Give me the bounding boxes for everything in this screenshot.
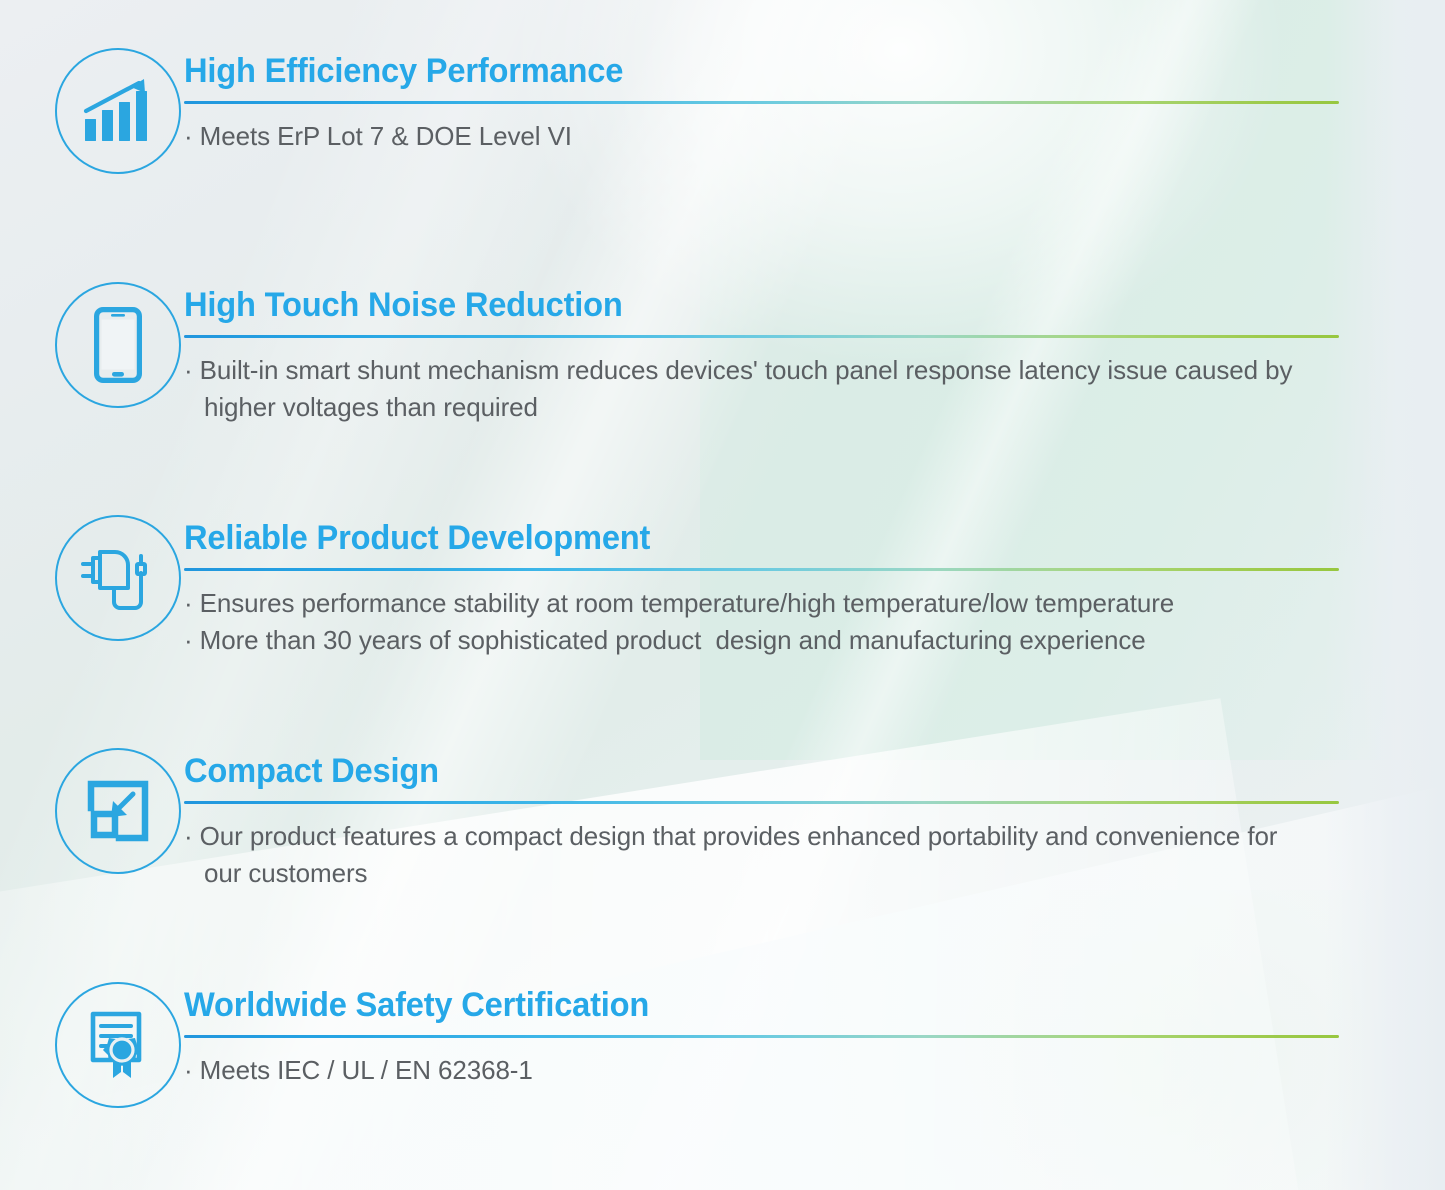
feature-title: Reliable Product Development [184,521,1382,557]
feature-bullet-line: · Meets IEC / UL / EN 62368-1 [184,1052,1432,1089]
compact-resize-icon [55,748,181,874]
feature-divider [184,101,1339,104]
smartphone-icon [55,282,181,408]
feature-item-high-touch-noise-reduction: High Touch Noise Reduction · Built-in sm… [52,282,1432,426]
feature-title: Compact Design [184,754,1382,790]
feature-description: · Ensures performance stability at room … [184,585,1432,659]
feature-title: High Touch Noise Reduction [184,288,1382,324]
power-adapter-icon [55,515,181,641]
feature-icon-container [52,982,184,1108]
feature-bullet-line: · Meets ErP Lot 7 & DOE Level VI [184,118,1432,155]
feature-body: Worldwide Safety Certification · Meets I… [184,982,1432,1089]
feature-icon-container [52,748,184,874]
feature-title: Worldwide Safety Certification [184,988,1382,1024]
feature-bullet-line: · Ensures performance stability at room … [184,585,1432,622]
feature-description: · Our product features a compact design … [184,818,1432,892]
bar-chart-growth-icon [55,48,181,174]
feature-list: High Efficiency Performance · Meets ErP … [0,0,1445,1190]
feature-body: High Touch Noise Reduction · Built-in sm… [184,282,1432,426]
feature-title: High Efficiency Performance [184,54,1382,90]
feature-item-high-efficiency-performance: High Efficiency Performance · Meets ErP … [52,48,1432,174]
feature-body: Compact Design · Our product features a … [184,748,1432,892]
feature-description: · Meets ErP Lot 7 & DOE Level VI [184,118,1432,155]
feature-item-worldwide-safety-certification: Worldwide Safety Certification · Meets I… [52,982,1432,1108]
feature-item-reliable-product-development: Reliable Product Development · Ensures p… [52,515,1432,659]
feature-icon-container [52,48,184,174]
feature-icon-container [52,282,184,408]
feature-divider [184,801,1339,804]
feature-divider [184,335,1339,338]
feature-description: · Built-in smart shunt mechanism reduces… [184,352,1432,426]
feature-icon-container [52,515,184,641]
feature-description: · Meets IEC / UL / EN 62368-1 [184,1052,1432,1089]
feature-body: Reliable Product Development · Ensures p… [184,515,1432,659]
feature-item-compact-design: Compact Design · Our product features a … [52,748,1432,892]
feature-bullet-line: · Our product features a compact design … [184,818,1294,892]
feature-bullet-line: · More than 30 years of sophisticated pr… [184,622,1432,659]
feature-bullet-line: · Built-in smart shunt mechanism reduces… [184,352,1349,426]
feature-divider [184,568,1339,571]
feature-divider [184,1035,1339,1038]
feature-body: High Efficiency Performance · Meets ErP … [184,48,1432,155]
certificate-award-icon [55,982,181,1108]
